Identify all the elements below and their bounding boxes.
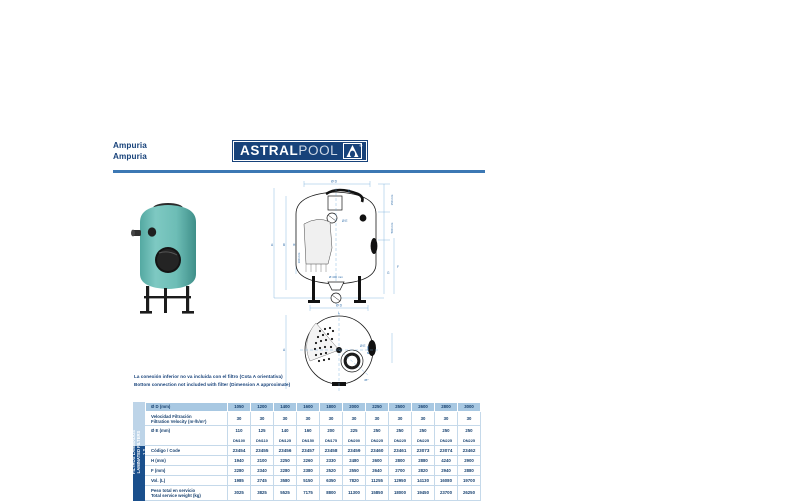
header-divider	[113, 170, 485, 173]
plan-label-e: Ø E	[360, 344, 366, 348]
table-cell: 140	[274, 426, 297, 436]
label-h: H	[293, 243, 296, 247]
table-cell: DN225	[458, 436, 481, 446]
table-cell: 250	[435, 426, 458, 436]
table-cell: 23457	[297, 446, 320, 456]
table-cell: 1940	[228, 456, 251, 466]
row-label: H (mm)	[146, 456, 228, 466]
table-cell: 30	[274, 412, 297, 426]
note-150mm: 150 mm	[390, 194, 394, 205]
table-cell: 30	[389, 412, 412, 426]
table-cell: 2260	[297, 456, 320, 466]
table-cell: 2380	[297, 466, 320, 476]
table-cell: 2280	[228, 466, 251, 476]
table-cell: 2520	[320, 466, 343, 476]
header-label: Ø D (mm)	[146, 403, 228, 412]
table-row: Peso total en servicio Total service wei…	[146, 486, 481, 501]
table-cell: 18000	[389, 486, 412, 501]
plan-label-l: L	[338, 311, 340, 315]
col-header: 1400	[274, 403, 297, 412]
table-cell: DN150	[297, 436, 320, 446]
label-a: A	[271, 243, 274, 247]
col-header: 1050	[228, 403, 251, 412]
table-cell: 23455	[251, 446, 274, 456]
plan-note-400: Ø 400	[366, 346, 370, 355]
elevation-drawing: Ø D C Ø E A B H F G 150 mm 500 mm 100 mm…	[266, 178, 406, 310]
row-label: Ø E (mm)	[146, 426, 228, 436]
table-cell: 125	[251, 426, 274, 436]
table-row: Código / Code 23454 23455 23456 23457 23…	[146, 446, 481, 456]
table-cell: 23456	[274, 446, 297, 456]
col-header: 2800	[435, 403, 458, 412]
table-row: DN100 DN110 DN125 DN150 DN175 DN200 DN22…	[146, 436, 481, 446]
table-cell: 2800	[389, 456, 412, 466]
page-header: Ampuria Ampuria ASTRALPOOL ®	[113, 136, 485, 166]
table-cell: 2745	[251, 476, 274, 486]
table-cell: 2940	[435, 466, 458, 476]
table-cell: 30	[251, 412, 274, 426]
table-cell: 19450	[412, 486, 435, 501]
table-cell: DN225	[389, 436, 412, 446]
specifications-table: Ø D (mm) 1050 1200 1400 1600 1800 2000 2…	[145, 402, 481, 501]
table-cell: 7175	[297, 486, 320, 501]
table-cell: 26250	[458, 486, 481, 501]
note-500mm: 500 mm	[390, 222, 394, 233]
table-cell: 2820	[412, 466, 435, 476]
col-header: 2250	[366, 403, 389, 412]
table-cell: 30	[435, 412, 458, 426]
table-cell: 30	[412, 412, 435, 426]
plan-label-a: A	[283, 348, 286, 352]
table-cell: 23460	[366, 446, 389, 456]
table-cell: 6350	[320, 476, 343, 486]
note-line-es: La conexión inferior no va incluida con …	[134, 373, 334, 381]
label-e: Ø E	[342, 219, 348, 223]
table-cell: 11300	[343, 486, 366, 501]
droplet-triangle-icon: ®	[343, 143, 362, 159]
table-cell: 5150	[297, 476, 320, 486]
table-cell: 250	[458, 426, 481, 436]
table-cell: 2640	[366, 466, 389, 476]
table-cell: 2880	[412, 456, 435, 466]
table-cell: 23462	[458, 446, 481, 456]
table-cell: 2600	[366, 456, 389, 466]
table-cell: 8800	[320, 486, 343, 501]
table-cell: 23700	[435, 486, 458, 501]
table-header-row: Ø D (mm) 1050 1200 1400 1600 1800 2000 2…	[146, 403, 481, 412]
note-line-en: Bottom connection not included with filt…	[134, 381, 334, 389]
row-label: Código / Code	[146, 446, 228, 456]
table-cell: DN175	[320, 436, 343, 446]
table-cell: 23454	[228, 446, 251, 456]
table-cell: 23461	[389, 446, 412, 456]
col-header: 1600	[297, 403, 320, 412]
table-cell: DN100	[228, 436, 251, 446]
table-row: Ø E (mm) 110 125 140 160 200 225 250 250…	[146, 426, 481, 436]
side-tab-ref: 1.2	[142, 429, 147, 473]
table-cell: 3025	[228, 486, 251, 501]
table-row: H (mm) 1940 2100 2250 2260 2330 2480 260…	[146, 456, 481, 466]
datasheet-page: Ampuria Ampuria ASTRALPOOL ®	[0, 0, 802, 501]
section-side-tab: FILTROS LAMINADOS LAMINATED FILTERS 1.2	[133, 402, 145, 501]
table-cell: 11255	[366, 476, 389, 486]
table-cell: 30	[343, 412, 366, 426]
table-cell: 2550	[343, 466, 366, 476]
table-cell: 30	[366, 412, 389, 426]
bottom-connection-note: La conexión inferior no va incluida con …	[134, 373, 334, 388]
table-cell: 2280	[274, 466, 297, 476]
table-cell: 250	[412, 426, 435, 436]
table-cell: 30	[320, 412, 343, 426]
table-row: Vol. (L) 1985 2745 3580 5150 6350 7820 1…	[146, 476, 481, 486]
col-header: 1800	[320, 403, 343, 412]
table-cell: 23074	[435, 446, 458, 456]
note-100mm: 100 mm	[297, 252, 301, 263]
table-cell: 3580	[274, 476, 297, 486]
table-cell: DN200	[343, 436, 366, 446]
table-cell: 110	[228, 426, 251, 436]
table-cell: 250	[389, 426, 412, 436]
row-label	[146, 436, 228, 446]
table-cell: 30	[458, 412, 481, 426]
table-cell: 3825	[251, 486, 274, 501]
table-row: Velocidad Filtración Filtration Velocity…	[146, 412, 481, 426]
table-cell: 5525	[274, 486, 297, 501]
row-label-en: Filtration Velocity (m³/h/m²)	[151, 419, 227, 424]
table-cell: 30	[228, 412, 251, 426]
table-cell: DN125	[274, 436, 297, 446]
label-diam-d: Ø D	[331, 180, 338, 184]
model-name-block: Ampuria Ampuria	[113, 140, 218, 162]
table-cell: 2700	[389, 466, 412, 476]
row-label: Peso total en servicio Total service wei…	[146, 486, 228, 501]
table-cell: 4240	[435, 456, 458, 466]
table-cell: 16080	[435, 476, 458, 486]
model-name-en: Ampuria	[113, 151, 218, 162]
table-cell: DN225	[366, 436, 389, 446]
table-cell: 12950	[389, 476, 412, 486]
col-header: 2600	[412, 403, 435, 412]
col-header: 1200	[251, 403, 274, 412]
label-g: G	[387, 271, 390, 275]
table-cell: 23459	[343, 446, 366, 456]
table-cell: 225	[343, 426, 366, 436]
table-cell: 7820	[343, 476, 366, 486]
table-cell: 2100	[251, 456, 274, 466]
table-cell: 250	[366, 426, 389, 436]
registered-mark: ®	[359, 143, 362, 148]
label-b: B	[283, 243, 285, 247]
table-cell: 2340	[251, 466, 274, 476]
plan-label-diam-d: Ø D	[336, 304, 343, 308]
col-header: 3000	[458, 403, 481, 412]
table-cell: 15850	[366, 486, 389, 501]
side-tab-text: FILTROS LAMINADOS LAMINATED FILTERS 1.2	[131, 429, 147, 473]
row-label: F (mm)	[146, 466, 228, 476]
label-f: F	[397, 265, 399, 269]
table-cell: DN225	[412, 436, 435, 446]
table-cell: 2250	[274, 456, 297, 466]
table-cell: 30	[297, 412, 320, 426]
note-400mm: Ø 400 mm	[329, 275, 344, 279]
table-cell: 2880	[458, 466, 481, 476]
row-label: Velocidad Filtración Filtration Velocity…	[146, 412, 228, 426]
table-cell: 200	[320, 426, 343, 436]
table-cell: 160	[297, 426, 320, 436]
col-header: 2000	[343, 403, 366, 412]
table-cell: 19700	[458, 476, 481, 486]
table-cell: 14130	[412, 476, 435, 486]
row-label-en: Total service weight (kg)	[151, 493, 227, 498]
brand-pool-text: POOL	[298, 144, 338, 158]
col-header: 2500	[389, 403, 412, 412]
table-row: F (mm) 2280 2340 2280 2380 2520 2550 264…	[146, 466, 481, 476]
table-cell: 23458	[320, 446, 343, 456]
table-cell: 2330	[320, 456, 343, 466]
table-cell: DN110	[251, 436, 274, 446]
table-cell: 23073	[412, 446, 435, 456]
table-cell: 1985	[228, 476, 251, 486]
table-cell: 2480	[343, 456, 366, 466]
model-name-es: Ampuria	[113, 140, 218, 151]
row-label: Vol. (L)	[146, 476, 228, 486]
brand-astral-text: ASTRAL	[240, 144, 298, 158]
specifications-block: FILTROS LAMINADOS LAMINATED FILTERS 1.2 …	[133, 402, 480, 501]
table-cell: DN225	[435, 436, 458, 446]
plan-label-angle: 45°	[364, 378, 369, 382]
product-photo	[128, 192, 208, 317]
table-cell: 2900	[458, 456, 481, 466]
brand-logo: ASTRALPOOL ®	[233, 141, 367, 161]
